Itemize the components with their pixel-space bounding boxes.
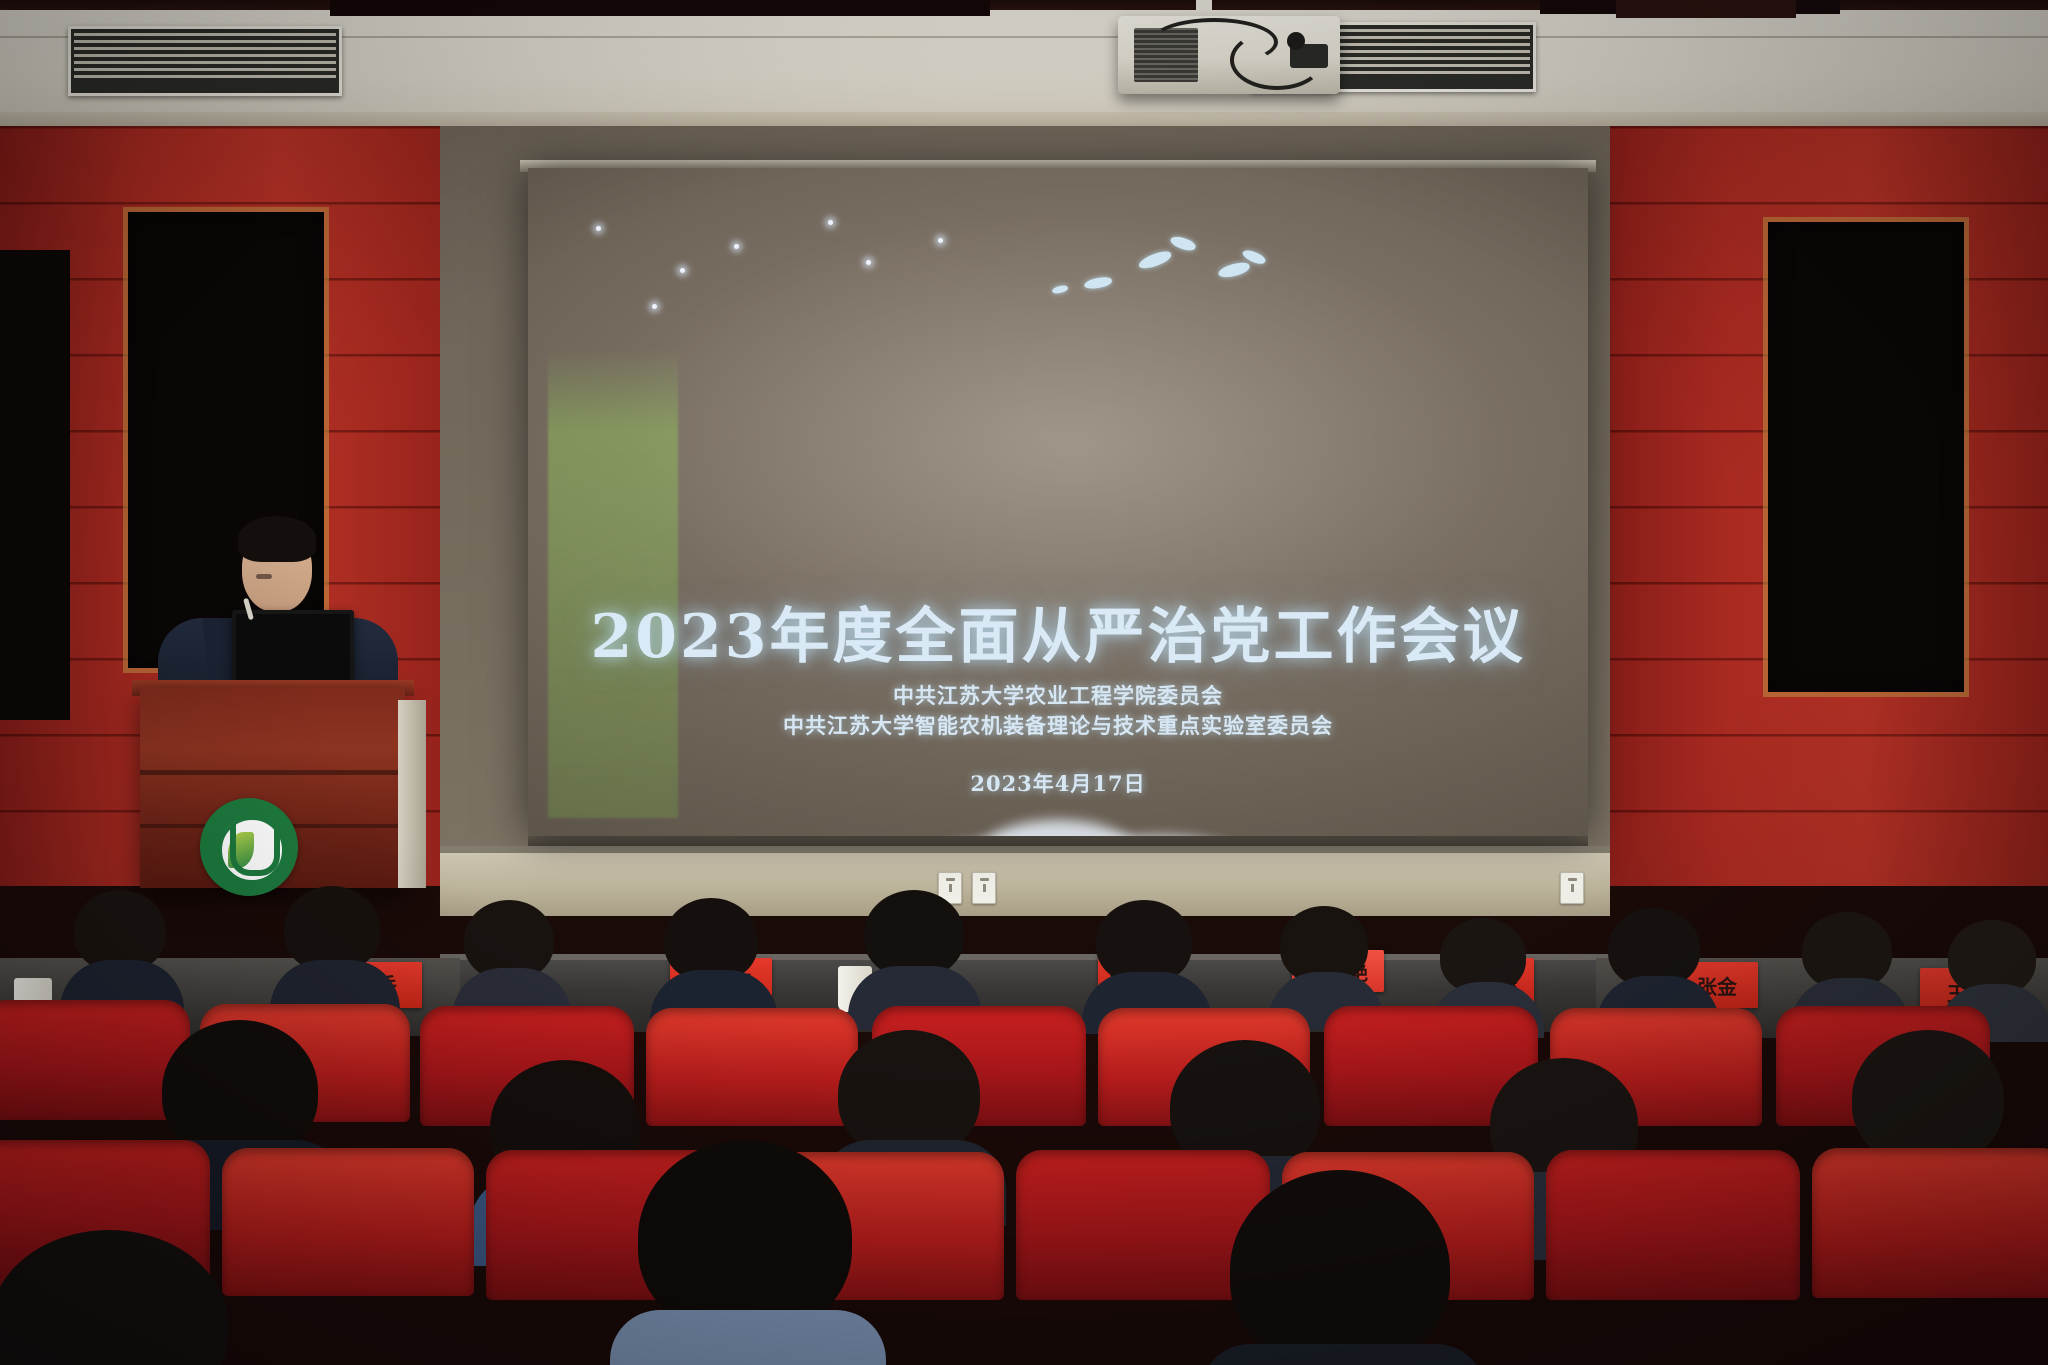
projector-cable	[1230, 30, 1324, 90]
podium-trim	[140, 770, 405, 775]
projector-cable-ferrite	[1287, 32, 1305, 50]
star-icon	[652, 304, 657, 309]
slide-org-line-2: 中共江苏大学智能农机装备理论与技术重点实验室委员会	[528, 710, 1588, 740]
jiangsu-university-logo	[200, 798, 298, 896]
audience-member	[650, 898, 774, 1014]
ceiling-recess-left	[330, 0, 990, 16]
star-icon	[828, 220, 833, 225]
front-wall-shadow-line	[440, 846, 1610, 853]
ceiling-beam	[1616, 0, 1796, 18]
pagoda-graphic	[548, 348, 678, 818]
star-icon	[596, 226, 601, 231]
audience-member-foreground	[1200, 1170, 1480, 1365]
auditorium-seat[interactable]	[1546, 1150, 1800, 1300]
audience-member	[1596, 908, 1716, 1020]
star-icon	[734, 244, 739, 249]
ceiling-air-vent	[68, 26, 342, 96]
audience-member	[452, 900, 568, 1010]
audience-member	[848, 890, 978, 1010]
star-icon	[866, 260, 871, 265]
star-icon	[938, 238, 943, 243]
speaker-hair	[238, 516, 316, 562]
audience-member-foreground	[0, 1230, 260, 1365]
audience-member	[270, 886, 396, 1002]
auditorium-seat[interactable]	[1812, 1148, 2048, 1298]
star-icon	[680, 268, 685, 273]
left-wall-shadow	[0, 250, 70, 720]
conference-hall-photo: 2023年度全面从严治党工作会议 中共江苏大学农业工程学院委员会 中共江苏大学智…	[0, 0, 2048, 1365]
speaker-mouth	[256, 574, 272, 579]
slide-org-line-1: 中共江苏大学农业工程学院委员会	[528, 680, 1588, 710]
audience-member	[1082, 900, 1208, 1016]
slide-date: 2023年4月17日	[528, 768, 1588, 798]
projection-screen[interactable]: 2023年度全面从严治党工作会议 中共江苏大学农业工程学院委员会 中共江苏大学智…	[528, 168, 1588, 836]
slide-title: 2023年度全面从严治党工作会议	[528, 588, 1588, 675]
podium-side-panel	[398, 700, 426, 888]
right-wall-dark-panel	[1768, 222, 1964, 692]
audience-member-foreground	[610, 1140, 880, 1365]
wall-outlet[interactable]	[1560, 872, 1584, 904]
front-wall-lower	[440, 846, 1610, 916]
audience-member	[60, 890, 180, 1000]
audience-member	[1268, 906, 1380, 1016]
